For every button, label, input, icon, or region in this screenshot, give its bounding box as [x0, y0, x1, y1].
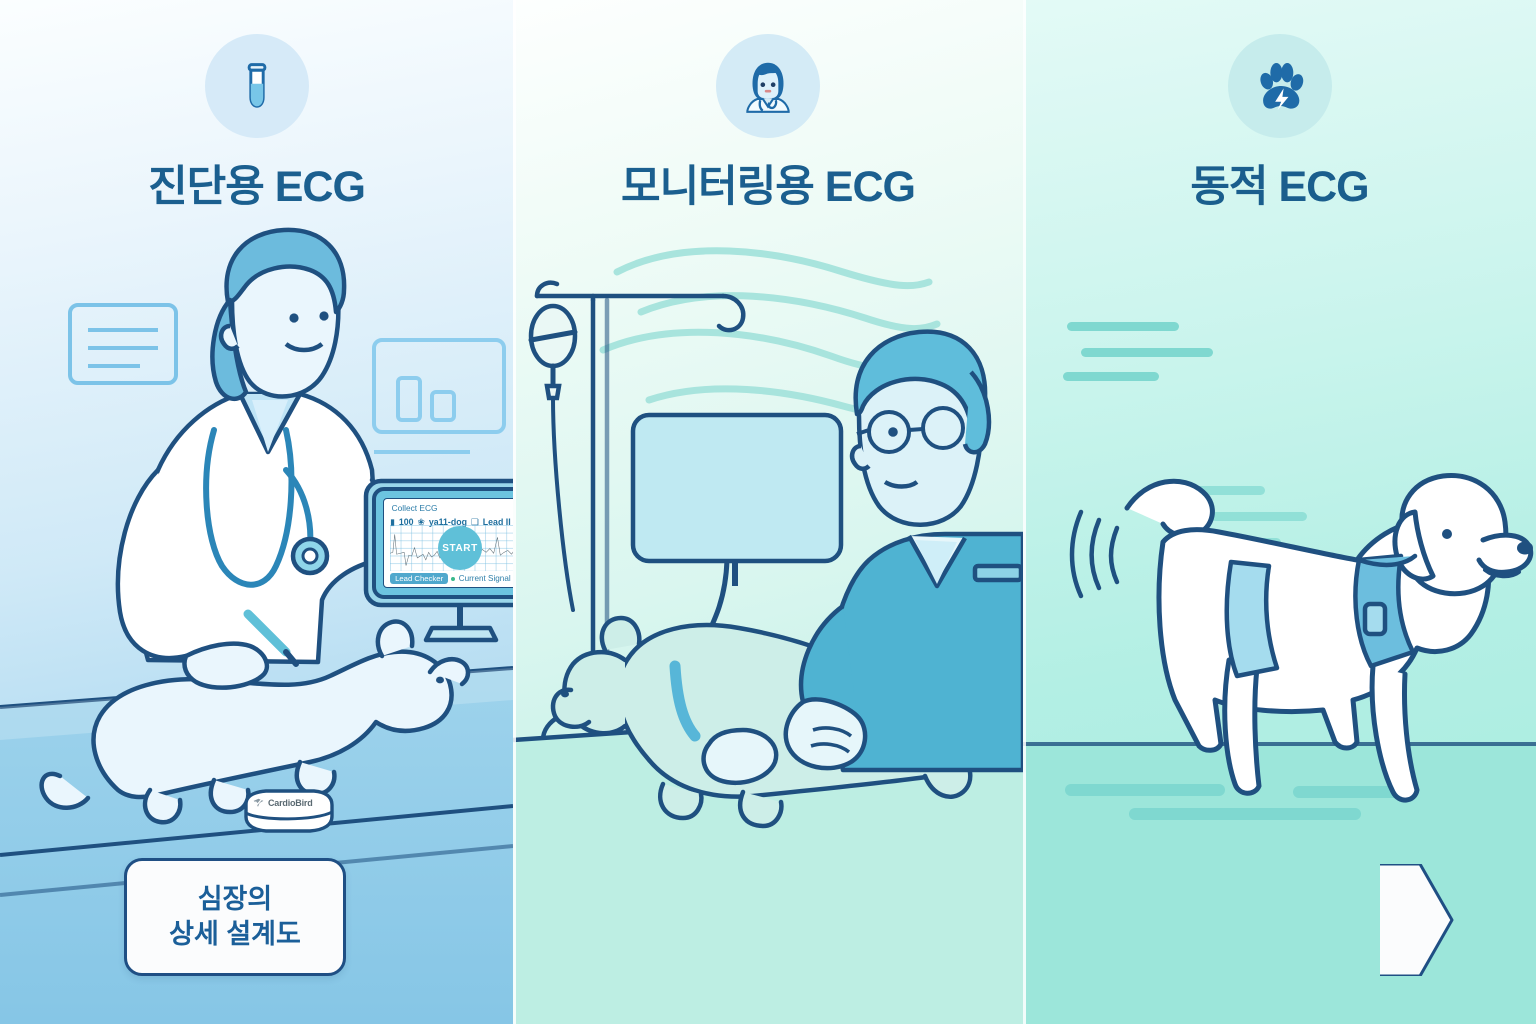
app-title: Collect ECG [392, 503, 438, 513]
caption-line-1: 심장의 [169, 882, 301, 917]
panel-ambulatory: Collect ECG ▮ 100 ❀ ya11-dog ❏ Lead II (… [1023, 0, 1536, 1024]
brand-text: CardioBird [268, 798, 313, 808]
test-tube-icon [230, 59, 284, 113]
quality-status: Current Signal Quality is Acceptable [459, 574, 513, 583]
brand-logo: CardioBird [252, 796, 313, 809]
ecg-tablet-panel1[interactable]: Collect ECG ▮ 100 ❀ ya11-dog ❏ Lead II (… [372, 487, 513, 599]
panel-2-title: 모니터링용 ECG [513, 152, 1023, 214]
panel-diagnostic: Collect ECG ▮ 100 ❀ ya11-dog ❏ Lead II (… [0, 0, 513, 1024]
tablet-bezel: Collect ECG ▮ 100 ❀ ya11-dog ❏ Lead II (… [372, 487, 513, 599]
cardiobird-device-puck: CardioBird [240, 788, 336, 834]
infographic-board: Collect ECG ▮ 100 ❀ ya11-dog ❏ Lead II (… [0, 0, 1536, 1024]
tail-wag-lines [1072, 512, 1117, 596]
panel-divider-2 [1023, 0, 1026, 1024]
bird-check-icon [252, 796, 265, 809]
panel-1-title: 진단용 ECG [0, 152, 513, 214]
panel-3-caption-arrow [1380, 864, 1454, 976]
ecg-app-screen[interactable]: Collect ECG ▮ 100 ❀ ya11-dog ❏ Lead II (… [383, 498, 513, 588]
start-button[interactable]: START [438, 526, 482, 570]
screen-footer: Lead Checker Current Signal Quality is A… [390, 573, 513, 584]
panel-1-caption: 심장의 상세 설계도 [124, 858, 346, 976]
panel-3-title: 동적 ECG [1023, 152, 1536, 214]
paw-bolt-icon [1251, 57, 1309, 115]
panel-monitoring: Collect ECG ▮ 100 ❀ ya11-dog ❏ Lead II (… [513, 0, 1023, 1024]
lead-checker-button[interactable]: Lead Checker [390, 573, 448, 584]
panel-2-icon-badge [716, 34, 820, 138]
caption-line-2: 상세 설계도 [169, 917, 301, 952]
panel-divider-1 [513, 0, 516, 1024]
panel-1-icon-badge [205, 34, 309, 138]
quality-dot [451, 577, 455, 581]
nurse-avatar-icon [737, 55, 799, 117]
panel-3-icon-badge [1228, 34, 1332, 138]
